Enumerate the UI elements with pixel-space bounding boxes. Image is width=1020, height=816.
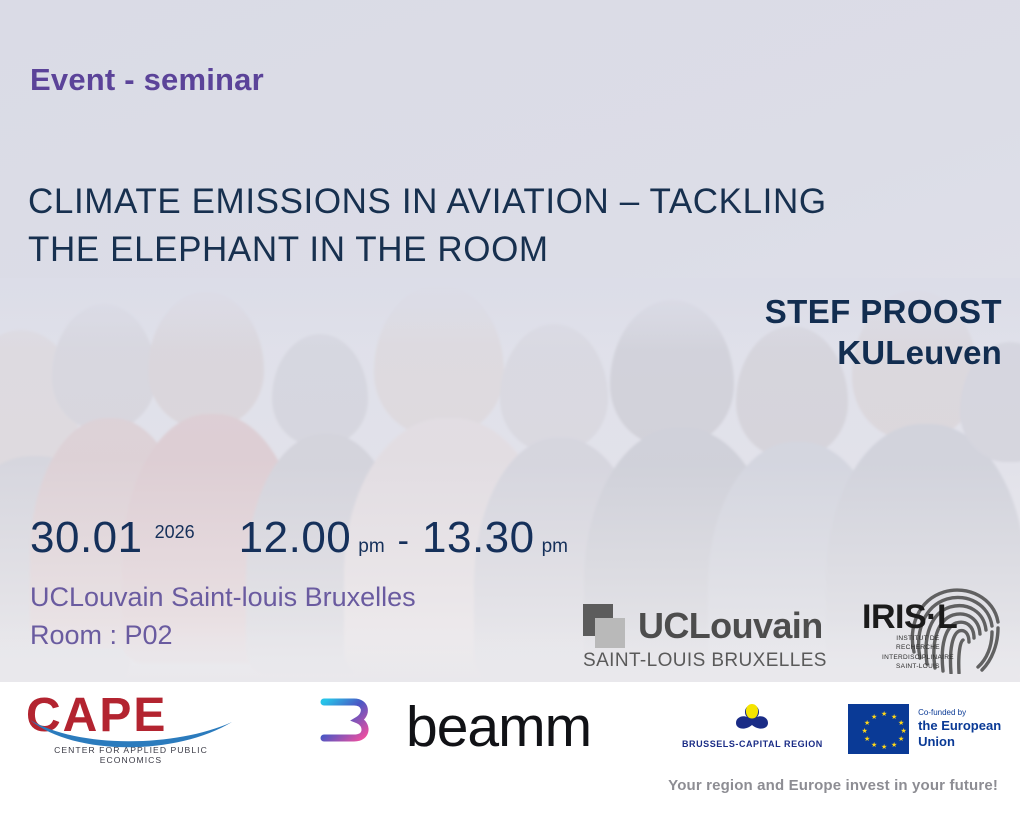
irisl-subtitle: INSTITUT DE RECHERCHE INTERDISCIPLINAIRE… <box>882 634 954 672</box>
venue-room: Room : P02 <box>30 616 416 654</box>
event-title: CLIMATE EMISSIONS IN AVIATION – TACKLING… <box>28 178 1020 273</box>
speaker-affiliation: KULeuven <box>765 332 1002 374</box>
speaker-block: STEF PROOST KULeuven <box>765 292 1002 374</box>
eu-cofunded-label: Co-funded by <box>918 708 1020 718</box>
event-time-end-meridiem: pm <box>542 536 568 558</box>
uclouvain-wordmark: UCLouvain <box>638 605 823 647</box>
brussels-region-logo: BRUSSELS-CAPITAL REGION <box>682 704 823 749</box>
eu-logo: ★ ★ ★ ★ ★ ★ ★ ★ ★ ★ ★ ★ Co-funded by the… <box>848 704 1020 754</box>
cape-logo-mark: CAPE <box>26 690 236 742</box>
beamm-logo: beamm <box>290 696 591 758</box>
speaker-name: STEF PROOST <box>765 292 1002 332</box>
event-year: 2026 <box>155 522 195 543</box>
cape-logo: CAPE CENTER FOR APPLIED PUBLIC ECONOMICS <box>26 690 236 765</box>
event-datetime: 30.01 2026 12.00 pm - 13.30 pm <box>30 513 568 563</box>
event-time-separator: - <box>398 522 409 561</box>
two-squares-icon <box>583 604 629 648</box>
irisl-logo: IRIS·L INSTITUT DE RECHERCHE INTERDISCIP… <box>858 584 1008 672</box>
irisl-wordmark: IRIS·L <box>862 598 957 637</box>
irisl-subtitle-line-3: INTERDISCIPLINAIRE <box>882 653 954 662</box>
gradient-b-icon <box>290 696 394 758</box>
beamm-wordmark: beamm <box>406 699 591 756</box>
funding-tagline: Your region and Europe invest in your fu… <box>668 777 998 794</box>
event-date: 30.01 <box>30 513 143 563</box>
eu-name-label: the European Union <box>918 718 1020 751</box>
event-title-line-1: CLIMATE EMISSIONS IN AVIATION – TACKLING <box>28 178 1020 226</box>
event-time-range: 12.00 pm - 13.30 pm <box>239 513 568 563</box>
irisl-subtitle-line-4: SAINT-LOUIS <box>882 662 954 671</box>
uclouvain-logo-row: UCLouvain <box>583 604 827 648</box>
irisl-subtitle-line-2: RECHERCHE <box>882 643 954 652</box>
iris-flower-icon <box>723 704 781 732</box>
event-time-start: 12.00 <box>239 513 352 563</box>
event-time-start-meridiem: pm <box>358 536 384 558</box>
event-poster: Event - seminar CLIMATE EMISSIONS IN AVI… <box>0 0 1020 816</box>
uclouvain-subtitle: SAINT-LOUIS BRUXELLES <box>583 650 827 672</box>
venue-institution: UCLouvain Saint-louis Bruxelles <box>30 578 416 616</box>
event-title-line-2: THE ELEPHANT IN THE ROOM <box>28 226 1020 274</box>
irisl-subtitle-line-1: INSTITUT DE <box>882 634 954 643</box>
event-time-end: 13.30 <box>422 513 535 563</box>
uclouvain-logo: UCLouvain SAINT-LOUIS BRUXELLES <box>583 604 827 672</box>
sponsor-footer: CAPE CENTER FOR APPLIED PUBLIC ECONOMICS <box>0 682 1020 816</box>
event-venue: UCLouvain Saint-louis Bruxelles Room : P… <box>30 578 416 655</box>
eu-logo-text: Co-funded by the European Union <box>918 708 1020 751</box>
square-light-shape <box>595 618 625 648</box>
brussels-region-wordmark: BRUSSELS-CAPITAL REGION <box>682 739 823 749</box>
swoosh-icon <box>24 704 238 750</box>
eu-flag-icon: ★ ★ ★ ★ ★ ★ ★ ★ ★ ★ ★ ★ <box>848 704 909 754</box>
event-type-label: Event - seminar <box>30 62 264 98</box>
